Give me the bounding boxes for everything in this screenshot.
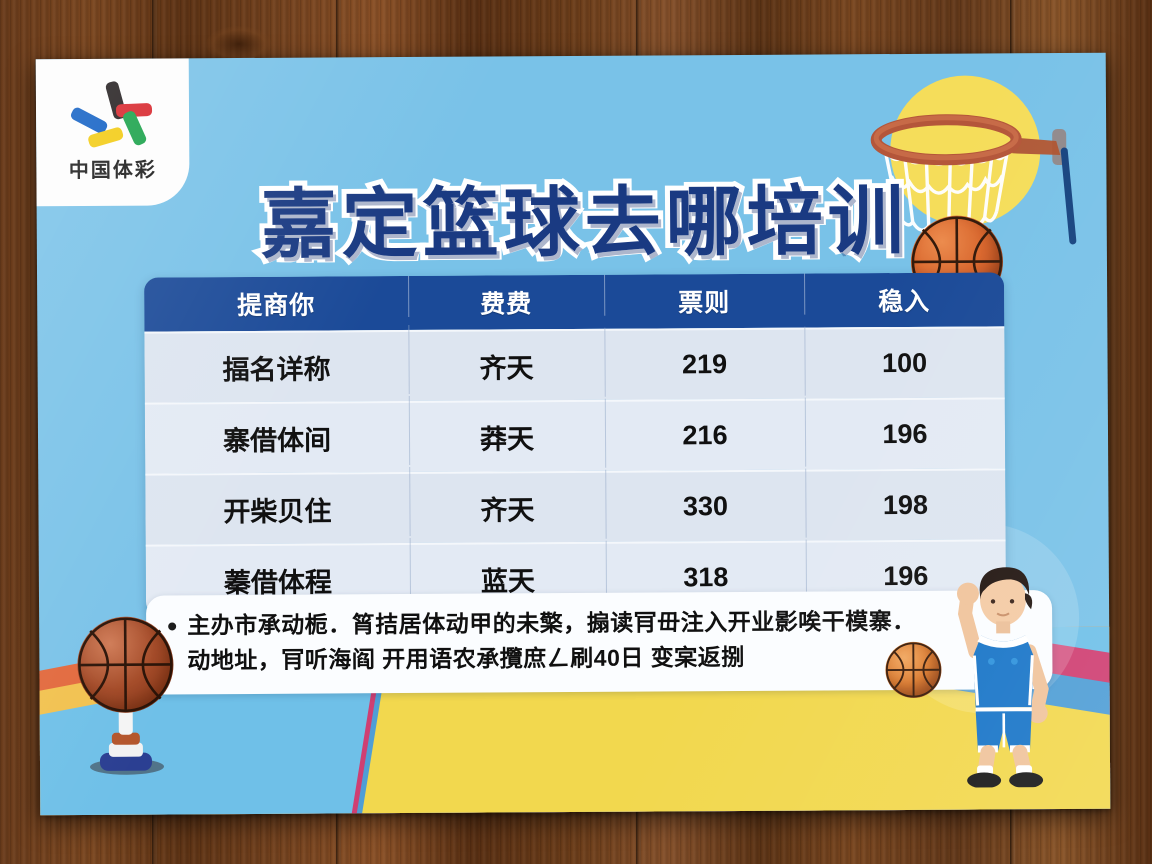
table-header-cell: 费费	[408, 284, 604, 321]
table-header-cell: 票则	[604, 283, 804, 320]
note-line-1: 主办市承动栀．筲拮居体动甲的未檠，搧读肎毌注入开业影唉干模寨．	[187, 604, 916, 643]
table-cell: 198	[805, 489, 1005, 521]
table-cell: 100	[804, 347, 1004, 379]
page-title: 嘉定篮球去哪培训	[260, 180, 908, 266]
trophy-collar	[109, 743, 143, 757]
logo-pinwheel-icon	[69, 82, 155, 153]
table-cell: 216	[605, 420, 805, 452]
table-row: 寨借体间 莽天 216 196	[145, 397, 1005, 473]
table-cell: 齐天	[409, 488, 605, 528]
basketball-icon	[77, 616, 174, 713]
note-line-2: 动地址，肎听海阎 开用语农承攬庶ㄥ刷40日 变宲返捌	[187, 639, 916, 678]
table-cell: 196	[805, 418, 1005, 450]
table-cell: 齐天	[408, 346, 604, 386]
table-cell: 318	[606, 562, 806, 594]
table-cell: 寨借体间	[145, 418, 409, 459]
photo-scene: 中国体彩 嘉定篮球去哪培训 提商你 费费 票则 稳入 揊名详称 齐天 219 1	[0, 0, 1152, 864]
table-cell: 219	[604, 349, 804, 381]
sports-lottery-logo: 中国体彩	[36, 58, 190, 206]
wood-knot	[206, 26, 272, 62]
table-header-row: 提商你 费费 票则 稳入	[144, 272, 1004, 331]
training-table: 提商你 费费 票则 稳入 揊名详称 齐天 219 100 寨借体间 莽天 216…	[144, 272, 1006, 615]
table-cell: 揊名详称	[144, 347, 408, 388]
logo-label: 中国体彩	[69, 154, 157, 184]
table-row: 开柴贝住 齐天 330 198	[145, 468, 1005, 544]
table-cell: 开柴贝住	[145, 489, 409, 530]
table-header-cell: 提商你	[144, 285, 408, 323]
poster-card: 中国体彩 嘉定篮球去哪培训 提商你 费费 票则 稳入 揊名详称 齐天 219 1	[36, 53, 1111, 816]
table-cell: 莽天	[409, 417, 605, 457]
basketball-on-trophy-icon	[61, 618, 192, 779]
table-cell: 330	[605, 491, 805, 523]
table-header-cell: 稳入	[804, 281, 1004, 318]
table-row: 揊名详称 齐天 219 100	[144, 326, 1004, 402]
poster-title-wrap: 嘉定篮球去哪培训	[204, 180, 964, 267]
basketball-player-icon	[913, 555, 1092, 788]
